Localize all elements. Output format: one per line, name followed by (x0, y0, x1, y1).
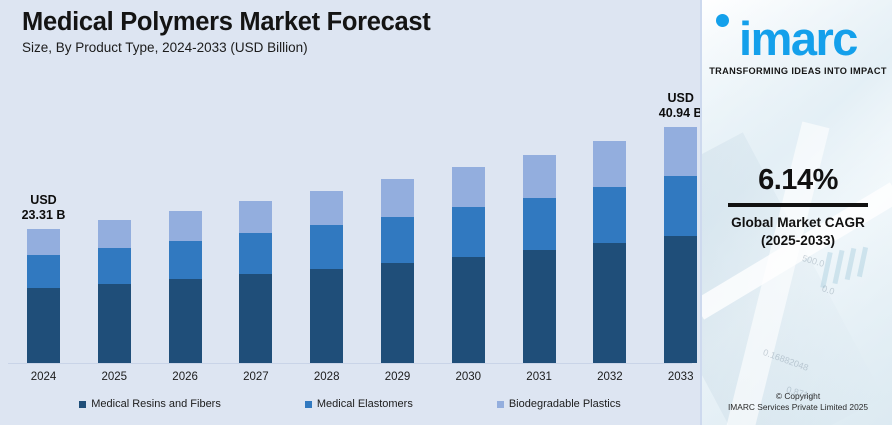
bar-segment-2033-s3[interactable] (664, 127, 697, 176)
bar-2028[interactable] (310, 191, 343, 363)
bar-segment-2024-s3[interactable] (27, 229, 60, 255)
value-label-first-line-1: USD (7, 193, 81, 208)
copyright-line-1: © Copyright (702, 391, 892, 402)
bar-2024[interactable] (27, 229, 60, 363)
x-axis-label-2029: 2029 (368, 371, 428, 383)
logo-tagline: TRANSFORMING IDEAS INTO IMPACT (702, 66, 892, 76)
bar-segment-2027-s3[interactable] (239, 201, 272, 233)
bar-segment-2025-s3[interactable] (98, 220, 131, 248)
value-label-first-line-2: 23.31 B (7, 208, 81, 223)
x-axis-label-2032: 2032 (580, 371, 640, 383)
x-axis-label-2031: 2031 (509, 371, 569, 383)
legend-item-biodegradable[interactable]: Biodegradable Plastics (497, 398, 621, 410)
bar-2032[interactable] (593, 141, 626, 363)
brand-panel: 500.0 0.0 0.16882048 0.8714 imarc TRANSF… (700, 0, 892, 425)
copyright-block: © Copyright IMARC Services Private Limit… (702, 391, 892, 413)
bar-segment-2024-s1[interactable] (27, 288, 60, 363)
bar-2027[interactable] (239, 201, 272, 363)
bar-segment-2033-s1[interactable] (664, 236, 697, 363)
legend-swatch-biodegradable (497, 401, 504, 408)
cagr-divider (728, 203, 868, 207)
cagr-label: Global Market CAGR (702, 215, 892, 230)
chart-legend: Medical Resins and Fibers Medical Elasto… (0, 398, 700, 410)
cagr-block: 6.14% Global Market CAGR (2025-2033) (702, 164, 892, 248)
bar-segment-2027-s1[interactable] (239, 274, 272, 363)
bar-segment-2025-s1[interactable] (98, 284, 131, 363)
bar-segment-2031-s2[interactable] (523, 198, 556, 251)
logo-dot-icon (716, 14, 729, 27)
bar-segment-2032-s1[interactable] (593, 243, 626, 363)
x-axis-label-2030: 2030 (438, 371, 498, 383)
bar-segment-2033-s2[interactable] (664, 176, 697, 236)
chart-infographic: Medical Polymers Market Forecast Size, B… (0, 0, 892, 425)
legend-item-resins[interactable]: Medical Resins and Fibers (79, 398, 221, 410)
x-axis-label-2026: 2026 (155, 371, 215, 383)
logo-wordmark: imarc (702, 14, 892, 64)
legend-item-elastomers[interactable]: Medical Elastomers (305, 398, 413, 410)
bar-segment-2028-s1[interactable] (310, 269, 343, 363)
bar-segment-2029-s3[interactable] (381, 179, 414, 216)
bar-segment-2029-s2[interactable] (381, 217, 414, 263)
plot-area: 2024202520262027202820292030203120322033… (0, 0, 700, 425)
copyright-line-2: IMARC Services Private Limited 2025 (702, 402, 892, 413)
legend-label-biodegradable: Biodegradable Plastics (509, 398, 621, 410)
value-label-first: USD23.31 B (7, 193, 81, 223)
chart-panel: Medical Polymers Market Forecast Size, B… (0, 0, 700, 425)
bar-segment-2029-s1[interactable] (381, 263, 414, 363)
bar-2031[interactable] (523, 155, 556, 363)
bar-2033[interactable] (664, 127, 697, 363)
bar-segment-2028-s2[interactable] (310, 225, 343, 268)
legend-label-elastomers: Medical Elastomers (317, 398, 413, 410)
x-axis-label-2028: 2028 (297, 371, 357, 383)
legend-swatch-elastomers (305, 401, 312, 408)
bar-segment-2032-s2[interactable] (593, 187, 626, 243)
bar-segment-2031-s1[interactable] (523, 250, 556, 363)
bar-segment-2031-s3[interactable] (523, 155, 556, 198)
bar-segment-2026-s2[interactable] (169, 241, 202, 279)
x-axis-label-2024: 2024 (14, 371, 74, 383)
bar-segment-2030-s3[interactable] (452, 167, 485, 207)
bar-segment-2028-s3[interactable] (310, 191, 343, 226)
bar-segment-2026-s3[interactable] (169, 211, 202, 241)
axis-baseline (8, 363, 692, 364)
legend-label-resins: Medical Resins and Fibers (91, 398, 221, 410)
legend-swatch-resins (79, 401, 86, 408)
imarc-logo: imarc TRANSFORMING IDEAS INTO IMPACT (702, 14, 892, 76)
cagr-value: 6.14% (702, 164, 892, 197)
bar-segment-2032-s3[interactable] (593, 141, 626, 187)
bar-segment-2027-s2[interactable] (239, 233, 272, 274)
bar-segment-2024-s2[interactable] (27, 255, 60, 289)
bar-segment-2026-s1[interactable] (169, 279, 202, 363)
bar-segment-2025-s2[interactable] (98, 248, 131, 284)
bar-segment-2030-s1[interactable] (452, 257, 485, 363)
cagr-period: (2025-2033) (702, 233, 892, 248)
x-axis-label-2025: 2025 (84, 371, 144, 383)
bar-segment-2030-s2[interactable] (452, 207, 485, 256)
bar-2029[interactable] (381, 179, 414, 363)
x-axis-label-2027: 2027 (226, 371, 286, 383)
bar-2025[interactable] (98, 220, 131, 363)
bar-2030[interactable] (452, 167, 485, 363)
bar-2026[interactable] (169, 211, 202, 363)
